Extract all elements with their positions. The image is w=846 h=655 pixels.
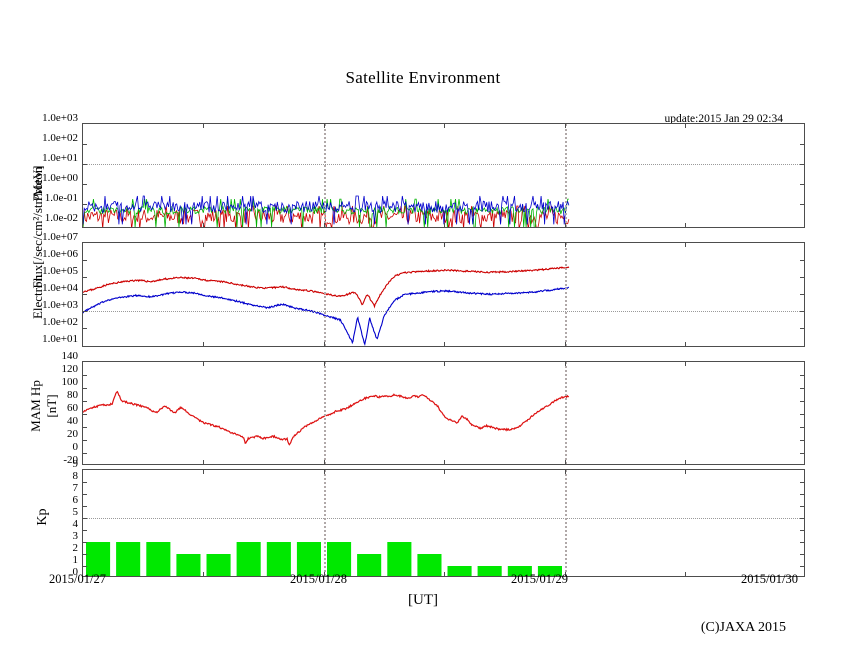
proton-panel xyxy=(82,123,805,228)
kp-bar xyxy=(86,542,110,576)
page-title: Satellite Environment xyxy=(0,68,846,88)
kp-bar xyxy=(207,554,231,576)
ytick-label: 1.0e+03 xyxy=(42,113,78,124)
day-gridline xyxy=(565,243,567,346)
ytick-label: 140 xyxy=(62,351,79,362)
ytick-label: 1.0e+03 xyxy=(42,300,78,311)
ytick-label: 1.0e+06 xyxy=(42,249,78,260)
kp-bar xyxy=(297,542,321,576)
kp-axis-label: Kp xyxy=(35,487,51,547)
kp-bars xyxy=(83,470,804,576)
kp-panel xyxy=(82,469,805,577)
day-gridline xyxy=(565,362,567,464)
x-axis-label: [UT] xyxy=(0,592,846,609)
ytick-label: 20 xyxy=(67,429,78,440)
satellite-environment-figure: Satellite Environment update:2015 Jan 29… xyxy=(0,0,846,655)
ytick-label: 9 xyxy=(73,459,79,470)
ytick-label: 1.0e+01 xyxy=(42,153,78,164)
ytick-label: 1 xyxy=(73,555,79,566)
mam-hp-axis-title: MAM Hp xyxy=(28,380,43,432)
electron-gridline-1e3 xyxy=(83,311,804,312)
ytick-label: 1.0e+04 xyxy=(42,283,78,294)
xtick-label-d3: 2015/01/30 xyxy=(741,572,798,587)
day-gridline xyxy=(565,124,567,227)
mam-hp-plot-area xyxy=(83,362,804,464)
xtick-label-d2: 2015/01/29 xyxy=(511,572,568,587)
kp-bar xyxy=(448,566,472,576)
kp-bar xyxy=(417,554,441,576)
kp-bar xyxy=(237,542,261,576)
ytick-label: 8 xyxy=(73,471,79,482)
ytick-label: 1.0e-02 xyxy=(45,213,78,224)
day-gridline xyxy=(565,470,567,576)
day-gridline xyxy=(324,470,326,576)
ytick-label: 1.0e+05 xyxy=(42,266,78,277)
ytick-label: 40 xyxy=(67,416,78,427)
proton-traces xyxy=(83,124,804,227)
ytick-label: 1.0e+07 xyxy=(42,232,78,243)
kp-bar xyxy=(357,554,381,576)
kp-bar xyxy=(146,542,170,576)
electron-panel xyxy=(82,242,805,347)
proton-gridline-1e1 xyxy=(83,164,804,165)
electron-plot-area xyxy=(83,243,804,346)
ytick-label: 2 xyxy=(73,543,79,554)
ytick-label: 3 xyxy=(73,531,79,542)
ytick-label: 1.0e+02 xyxy=(42,317,78,328)
proton-plot-area xyxy=(83,124,804,227)
mam-hp-axis-label: MAM Hp xyxy=(28,356,44,456)
ytick-label: 1.0e+01 xyxy=(42,334,78,345)
day-gridline xyxy=(324,124,326,227)
kp-gridline-5 xyxy=(83,518,804,519)
ytick-label: 5 xyxy=(73,507,79,518)
ytick-label: 1.0e-01 xyxy=(45,193,78,204)
xtick-label-d1: 2015/01/28 xyxy=(290,572,347,587)
ytick-label: 4 xyxy=(73,519,79,530)
mam-hp-axis-unit: [nT] xyxy=(44,356,60,456)
xtick-label-d0: 2015/01/27 xyxy=(49,572,106,587)
kp-bar xyxy=(116,542,140,576)
mam-hp-panel xyxy=(82,361,805,465)
day-gridline xyxy=(324,362,326,464)
ytick-label: 0 xyxy=(73,442,79,453)
ytick-label: 80 xyxy=(67,390,78,401)
electron-traces xyxy=(83,243,804,346)
ytick-label: 1.0e+00 xyxy=(42,173,78,184)
ytick-label: 60 xyxy=(67,403,78,414)
kp-bar xyxy=(387,542,411,576)
kp-bar xyxy=(176,554,200,576)
kp-bar xyxy=(267,542,291,576)
mam-hp-trace xyxy=(83,362,804,464)
ytick-label: 1.0e+02 xyxy=(42,133,78,144)
copyright-notice: (C)JAXA 2015 xyxy=(701,620,786,636)
kp-bar xyxy=(327,542,351,576)
ytick-label: 6 xyxy=(73,495,79,506)
ytick-label: 100 xyxy=(62,377,79,388)
ytick-label: 7 xyxy=(73,483,79,494)
electron-axis-label: Electron xyxy=(30,249,46,345)
kp-plot-area xyxy=(83,470,804,576)
day-gridline xyxy=(324,243,326,346)
kp-bar xyxy=(478,566,502,576)
ytick-label: 120 xyxy=(62,364,79,375)
